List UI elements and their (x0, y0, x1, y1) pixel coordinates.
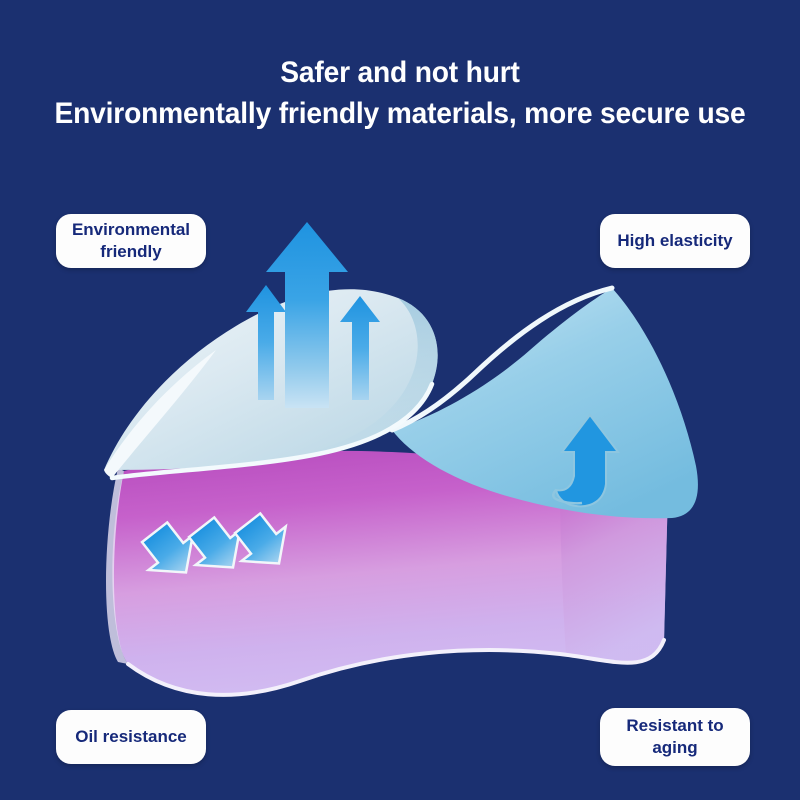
badge-high-elasticity[interactable]: High elasticity (600, 214, 750, 268)
badge-label: Resistant to aging (610, 715, 740, 759)
fabric-illustration (0, 0, 800, 800)
badge-resistant-to-aging[interactable]: Resistant to aging (600, 708, 750, 766)
badge-label: High elasticity (617, 230, 732, 252)
badge-label: Oil resistance (75, 726, 187, 748)
up-arrows-group (246, 222, 380, 408)
badge-oil-resistance[interactable]: Oil resistance (56, 710, 206, 764)
badge-environmental-friendly[interactable]: Environmental friendly (56, 214, 206, 268)
poster-canvas: Safer and not hurt Environmentally frien… (0, 0, 800, 800)
badge-label: Environmental friendly (66, 219, 196, 263)
